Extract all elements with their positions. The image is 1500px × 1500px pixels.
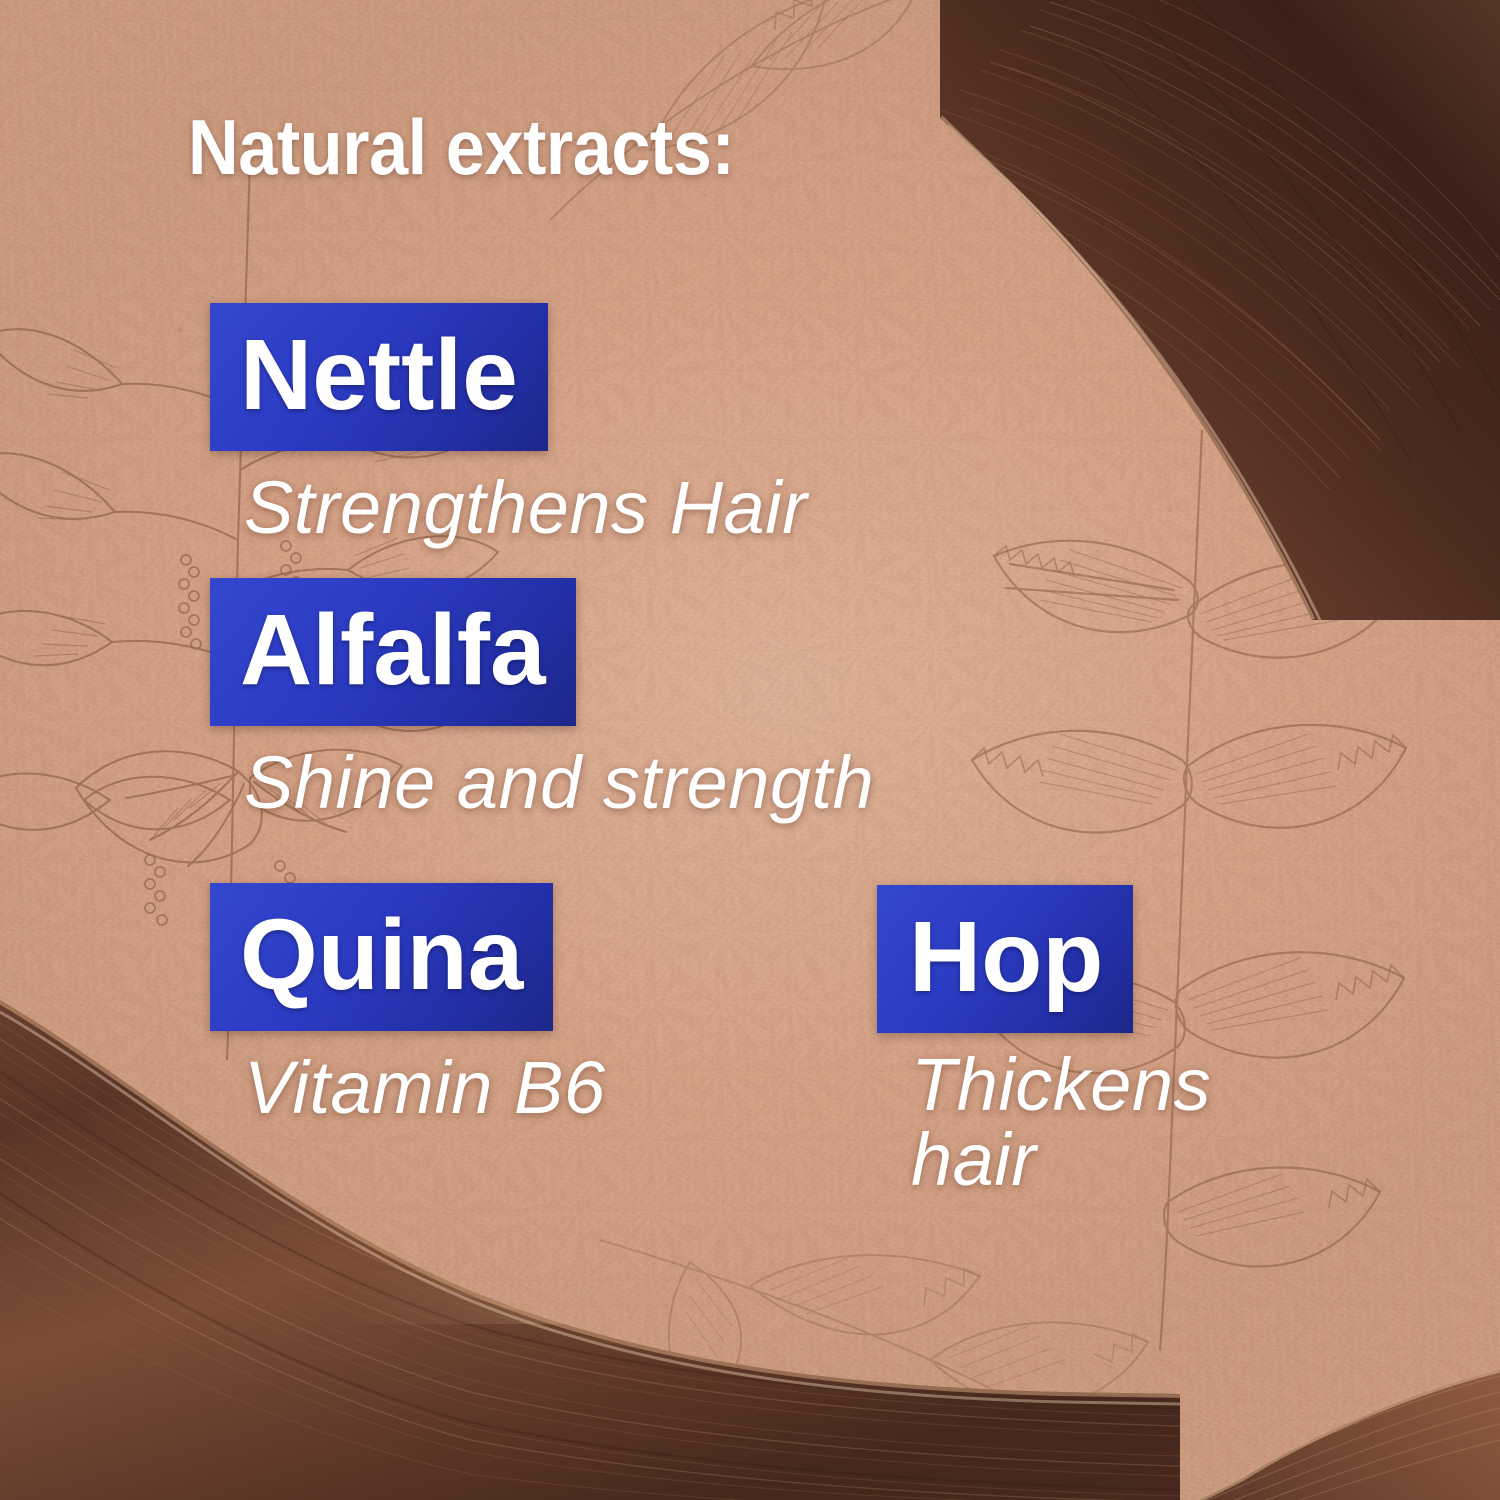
extract-name-badge-quina[interactable]: Quina — [210, 883, 553, 1031]
page-title: Natural extracts: — [188, 102, 734, 193]
extract-item-alfalfa: Alfalfa Shine and strength — [210, 578, 874, 825]
extract-name-label: Quina — [240, 905, 523, 1005]
extract-item-hop: Hop Thickens hair — [877, 885, 1211, 1198]
extract-item-nettle: Nettle Strengthens Hair — [210, 303, 807, 550]
extract-description-nettle: Strengthens Hair — [244, 465, 807, 550]
extract-description-quina: Vitamin B6 — [244, 1045, 606, 1130]
extract-name-label: Hop — [909, 907, 1103, 1007]
extract-name-badge-nettle[interactable]: Nettle — [210, 303, 548, 451]
extract-description-hop: Thickens hair — [911, 1047, 1211, 1198]
extract-description-alfalfa: Shine and strength — [244, 740, 874, 825]
product-infographic: Natural extracts: Nettle Strengthens Hai… — [0, 0, 1500, 1500]
extract-name-label: Alfalfa — [240, 600, 546, 700]
extract-item-quina: Quina Vitamin B6 — [210, 883, 606, 1130]
extract-name-badge-alfalfa[interactable]: Alfalfa — [210, 578, 576, 726]
extract-name-badge-hop[interactable]: Hop — [877, 885, 1133, 1033]
content-layer: Natural extracts: Nettle Strengthens Hai… — [0, 0, 1500, 1500]
extract-name-label: Nettle — [240, 325, 518, 425]
